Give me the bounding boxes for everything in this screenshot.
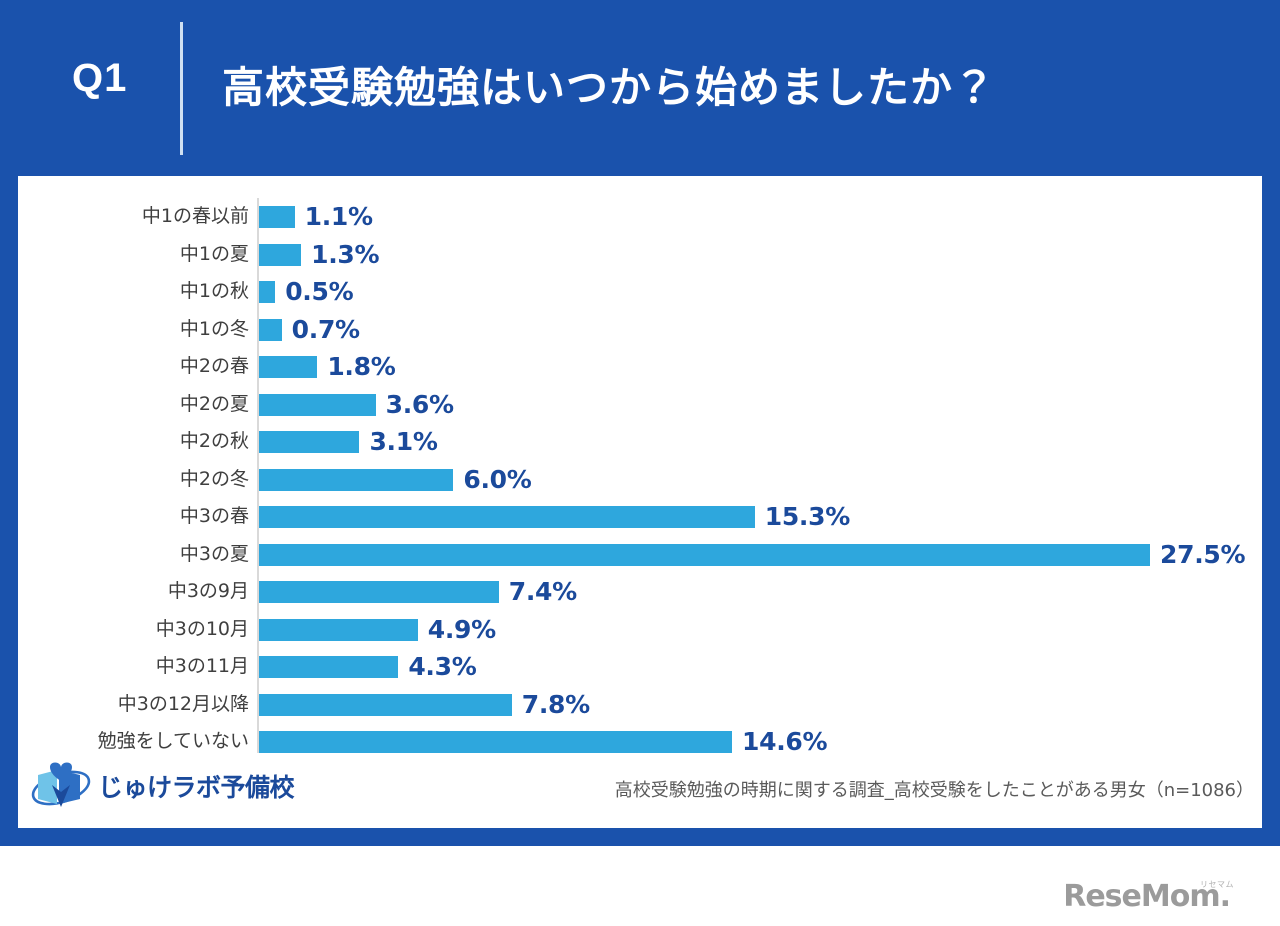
chart-row: 中3の11月4.3% [18, 648, 1262, 686]
bar-value-label: 7.4% [509, 573, 577, 611]
chart-row: 中2の冬6.0% [18, 461, 1262, 499]
bar [259, 431, 359, 453]
page-title: 高校受験勉強はいつから始めましたか？ [222, 56, 996, 119]
watermark-ruby: リセマム [1200, 879, 1234, 890]
chart-row: 中3の夏27.5% [18, 536, 1262, 574]
bar-value-label: 4.3% [408, 648, 476, 686]
category-label: 中3の夏 [180, 536, 249, 574]
bar [259, 656, 398, 678]
chart-row: 中1の夏1.3% [18, 236, 1262, 274]
category-label: 中3の春 [180, 498, 249, 536]
chart-footer: じゅけラボ予備校 高校受験勉強の時期に関する調査_高校受験をしたことがある男女（… [18, 759, 1262, 828]
watermark: ReseMom. リセマム [1063, 872, 1264, 912]
bar [259, 281, 275, 303]
bar [259, 244, 301, 266]
chart-row: 中2の秋3.1% [18, 423, 1262, 461]
bar-value-label: 6.0% [463, 461, 531, 499]
bar [259, 356, 317, 378]
bar-value-label: 1.1% [305, 198, 373, 236]
bar-value-label: 0.5% [285, 273, 353, 311]
chart-row: 勉強をしていない14.6% [18, 723, 1262, 761]
category-label: 中3の11月 [156, 648, 249, 686]
question-panel: Q1 高校受験勉強はいつから始めましたか？ 中1の春以前1.1%中1の夏1.3%… [0, 0, 1280, 846]
category-label: 中3の12月以降 [118, 686, 249, 724]
chart-row: 中3の10月4.9% [18, 611, 1262, 649]
bar-value-label: 15.3% [765, 498, 850, 536]
chart-row: 中1の秋0.5% [18, 273, 1262, 311]
chart-caption: 高校受験勉強の時期に関する調査_高校受験をしたことがある男女（n=1086） [615, 776, 1254, 802]
bar-value-label: 14.6% [742, 723, 827, 761]
category-label: 中3の9月 [168, 573, 249, 611]
bar-value-label: 3.6% [386, 386, 454, 424]
category-label: 中2の春 [180, 348, 249, 386]
bar [259, 544, 1150, 566]
category-label: 中2の夏 [180, 386, 249, 424]
bar-chart: 中1の春以前1.1%中1の夏1.3%中1の秋0.5%中1の冬0.7%中2の春1.… [18, 176, 1262, 756]
chart-row: 中1の冬0.7% [18, 311, 1262, 349]
bar-value-label: 1.3% [311, 236, 379, 274]
chart-row: 中2の夏3.6% [18, 386, 1262, 424]
bar [259, 319, 282, 341]
category-label: 中2の秋 [180, 423, 249, 461]
bar [259, 394, 376, 416]
brand-logo: じゅけラボ予備校 [30, 761, 294, 811]
brand-logo-text: じゅけラボ予備校 [98, 768, 294, 804]
category-label: 中1の秋 [180, 273, 249, 311]
header-divider [180, 22, 183, 155]
bar-value-label: 27.5% [1160, 536, 1245, 574]
bar [259, 731, 732, 753]
bar [259, 694, 512, 716]
chart-row: 中3の12月以降7.8% [18, 686, 1262, 724]
chart-row: 中1の春以前1.1% [18, 198, 1262, 236]
category-label: 勉強をしていない [98, 723, 249, 761]
bar [259, 506, 755, 528]
category-label: 中2の冬 [180, 461, 249, 499]
category-label: 中1の冬 [180, 311, 249, 349]
header: Q1 高校受験勉強はいつから始めましたか？ [0, 0, 1280, 176]
bar-value-label: 3.1% [369, 423, 437, 461]
question-number: Q1 [72, 58, 127, 98]
chart-row: 中3の9月7.4% [18, 573, 1262, 611]
chart-card: 中1の春以前1.1%中1の夏1.3%中1の秋0.5%中1の冬0.7%中2の春1.… [18, 176, 1262, 828]
bar [259, 619, 418, 641]
book-orbit-logo-icon [30, 761, 92, 811]
category-label: 中1の春以前 [142, 198, 249, 236]
bar-value-label: 4.9% [428, 611, 496, 649]
bar-value-label: 7.8% [522, 686, 590, 724]
category-label: 中3の10月 [156, 611, 249, 649]
bar-value-label: 1.8% [327, 348, 395, 386]
chart-row: 中3の春15.3% [18, 498, 1262, 536]
bar [259, 469, 453, 491]
bar [259, 581, 499, 603]
bar [259, 206, 295, 228]
category-label: 中1の夏 [180, 236, 249, 274]
chart-row: 中2の春1.8% [18, 348, 1262, 386]
bar-value-label: 0.7% [292, 311, 360, 349]
